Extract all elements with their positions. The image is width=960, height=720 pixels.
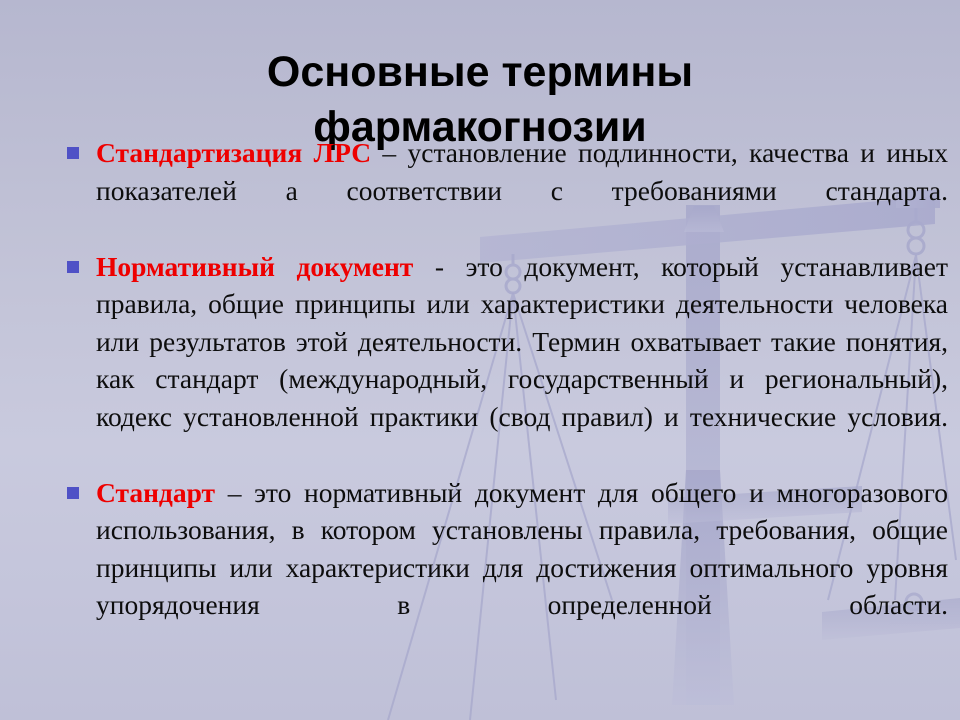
definition-text: – это нормативный документ для общего и … [96, 477, 948, 621]
bullet-item: Нормативный документ - это документ, кот… [62, 248, 948, 473]
term-label: Нормативный документ [96, 251, 413, 282]
square-bullet-icon [67, 147, 79, 159]
term-label: Стандартизация ЛРС [96, 137, 371, 168]
bullet-item: Стандарт – это нормативный документ для … [62, 474, 948, 662]
bullet-list: Стандартизация ЛРС – установление подлин… [62, 134, 948, 661]
presentation-slide: Основные термины фармакогнозии Стандарти… [0, 0, 960, 720]
square-bullet-icon [67, 487, 79, 499]
bullet-item: Стандартизация ЛРС – установление подлин… [62, 134, 948, 247]
square-bullet-icon [67, 261, 79, 273]
term-label: Стандарт [96, 477, 215, 508]
